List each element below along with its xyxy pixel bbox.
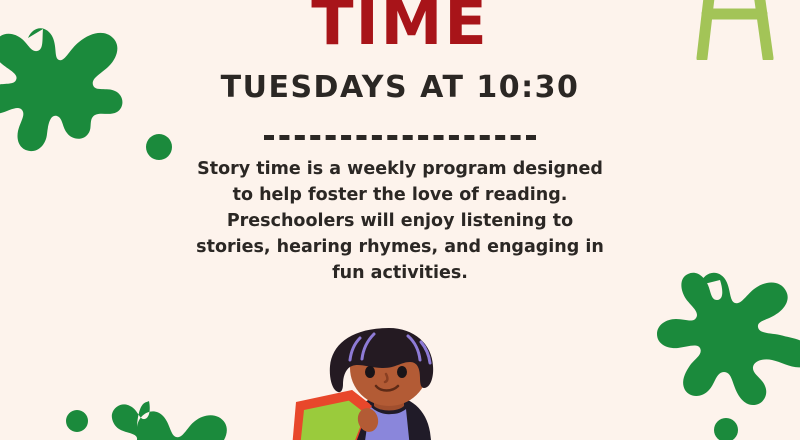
paint-dot-bottom-left-icon <box>66 410 88 432</box>
poster-description: Story time is a weekly program designed … <box>190 156 610 286</box>
poster-canvas: TIME TUESDAYS AT 10:30 Story time is a w… <box>0 0 800 440</box>
poster-subtitle: TUESDAYS AT 10:30 <box>0 70 800 105</box>
child-reading-book-illustration <box>290 328 500 440</box>
paint-dot-bottom-right-icon <box>714 418 738 440</box>
page-title: TIME <box>0 0 800 52</box>
poster-text-block: TIME TUESDAYS AT 10:30 Story time is a w… <box>0 0 800 286</box>
paint-splatter-bottom-left-icon <box>95 375 310 440</box>
dashed-divider <box>264 135 536 140</box>
